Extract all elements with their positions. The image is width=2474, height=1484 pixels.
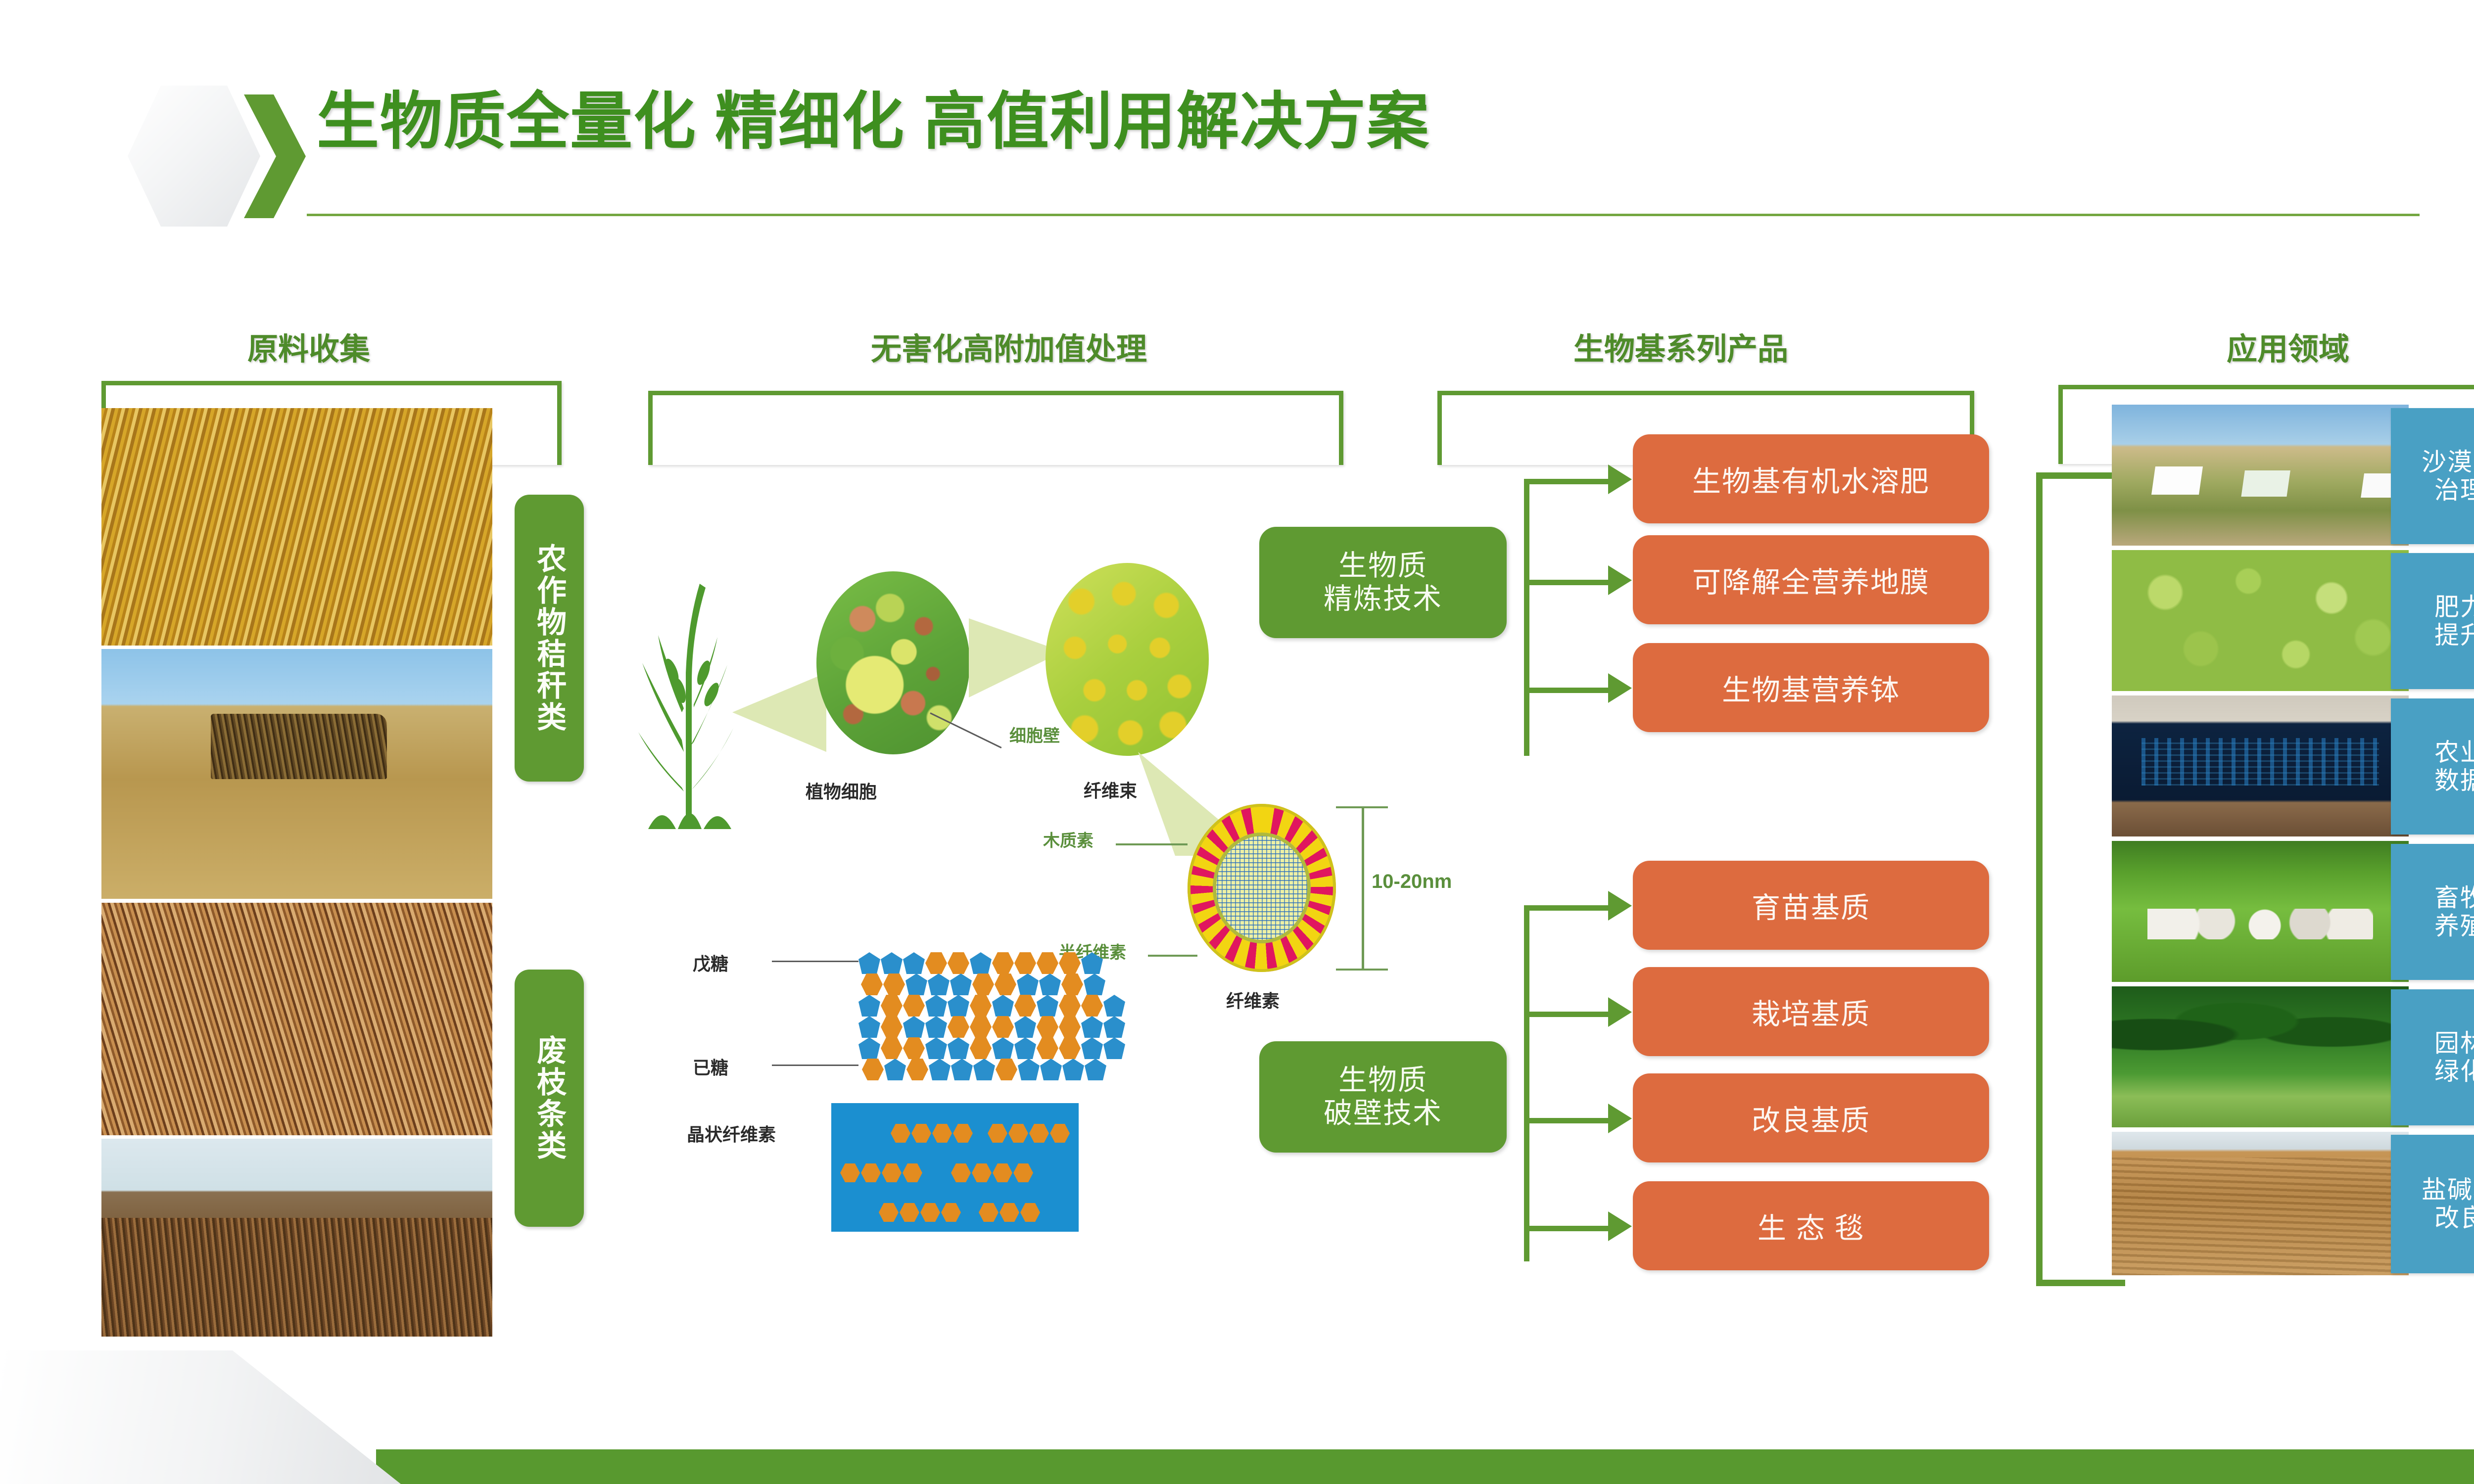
product-pill-cultivation-substrate[interactable]: 栽培基质	[1633, 967, 1989, 1056]
fiber-bundle-illustration	[1046, 563, 1209, 756]
sugar-chain-row	[858, 995, 1126, 1017]
feedstock-tag-waste-branches: 废枝条类	[515, 970, 584, 1227]
arrow-refining-2	[1608, 565, 1632, 595]
connector-branch-refining-2	[1524, 580, 1611, 585]
agriculture-data-center-photo	[2112, 696, 2409, 836]
crystalline-cellulose-illustration	[831, 1103, 1079, 1232]
label-pentose: 戊糖	[693, 950, 728, 975]
cellulose-cross-section-illustration	[1188, 804, 1336, 972]
corn-straw-field-photo	[101, 408, 492, 646]
arrow-wall-2	[1608, 997, 1632, 1027]
application-label-line2: 改良	[2434, 1204, 2474, 1232]
feedstock-tag-crop-straw: 农作物秸秆类	[515, 495, 584, 782]
sheep-grazing-photo	[2112, 841, 2409, 982]
connector-trunk-wall-breaking	[1524, 905, 1529, 1261]
technology-pill-wall-breaking[interactable]: 生物质 破壁技术	[1259, 1041, 1507, 1153]
label-cell-wall: 细胞壁	[1009, 722, 1060, 746]
arrow-wall-3	[1608, 1104, 1632, 1133]
rice-plant-icon	[628, 554, 747, 831]
application-label-fertility-improvement[interactable]: 肥力 提升	[2391, 553, 2474, 689]
technology-pill-refining-line1: 生物质	[1338, 550, 1427, 583]
application-label-line2: 治理	[2434, 476, 2474, 505]
section-header-products: 生物基系列产品	[1573, 324, 1788, 369]
connector-branch-wall-2	[1524, 1012, 1611, 1017]
label-lignin: 木质素	[1043, 827, 1094, 851]
arrow-wall-1	[1608, 891, 1632, 921]
label-hexose: 已糖	[693, 1054, 728, 1079]
product-pill-water-soluble-fertilizer[interactable]: 生物基有机水溶肥	[1633, 434, 1989, 523]
technology-pill-refining[interactable]: 生物质 精炼技术	[1259, 527, 1507, 638]
scale-bar-vertical	[1362, 806, 1364, 970]
lignin-leader-line	[1116, 843, 1188, 845]
connector-branch-refining-1	[1524, 479, 1611, 484]
connector-branch-wall-3	[1524, 1118, 1611, 1123]
header-logo	[128, 77, 301, 235]
arrow-wall-4	[1608, 1211, 1632, 1241]
sugar-chain-row	[858, 952, 1103, 974]
label-plant-cell: 植物细胞	[806, 778, 877, 803]
landscape-greening-photo	[2112, 986, 2409, 1127]
hemicellulose-leader-line	[1148, 955, 1197, 957]
application-label-line1: 盐碱地	[2422, 1176, 2474, 1204]
application-label-line1: 畜牧	[2434, 884, 2474, 912]
pruned-branches-photo	[101, 903, 492, 1135]
connector-branch-refining-3	[1524, 688, 1611, 693]
sugar-chain-row	[858, 1037, 1126, 1059]
product-pill-nutrient-pot[interactable]: 生物基营养钵	[1633, 643, 1989, 732]
application-label-line2: 养殖	[2434, 912, 2474, 940]
arrow-refining-1	[1608, 464, 1632, 494]
section-header-processing: 无害化高附加值处理	[871, 324, 1147, 369]
desertification-control-photo	[2112, 405, 2409, 546]
section-header-collection: 原料收集	[247, 324, 370, 369]
applications-bracket-spine	[2036, 472, 2043, 1286]
technology-pill-refining-line2: 精炼技术	[1324, 583, 1442, 616]
connector-branch-wall-4	[1524, 1226, 1611, 1231]
label-cellulose: 纤维素	[1226, 987, 1280, 1013]
label-crystalline-cellulose: 晶状纤维素	[687, 1120, 776, 1146]
product-pill-seedling-substrate[interactable]: 育苗基质	[1633, 861, 1989, 950]
sugar-chain-row	[861, 974, 1106, 995]
application-label-landscape-greening[interactable]: 园林 绿化	[2391, 989, 2474, 1125]
hexagon-icon	[128, 86, 260, 227]
technology-pill-wall-breaking-line1: 生物质	[1338, 1064, 1427, 1097]
footer-white-wedge	[0, 1350, 401, 1484]
vineyard-pruning-photo	[101, 1139, 492, 1337]
applications-bracket-bottom-arm	[2036, 1280, 2125, 1286]
section-header-applications: 应用领域	[2227, 324, 2349, 369]
product-pill-ecological-blanket[interactable]: 生 态 毯	[1633, 1181, 1989, 1270]
sugar-chain-row	[858, 1016, 1126, 1038]
application-label-saline-alkali-improvement[interactable]: 盐碱地 改良	[2391, 1135, 2474, 1273]
application-label-line1: 农业	[2434, 739, 2474, 767]
title-underline-rule	[307, 214, 2420, 216]
plant-cell-illustration	[816, 571, 970, 754]
application-label-line1: 肥力	[2434, 593, 2474, 621]
label-fiber-bundle: 纤维束	[1084, 777, 1137, 802]
sugar-chain-row	[862, 1059, 1107, 1080]
application-label-line2: 绿化	[2434, 1058, 2474, 1086]
application-label-line2: 数据	[2434, 767, 2474, 795]
label-scale-10-20nm: 10-20nm	[1372, 871, 1452, 893]
page-title: 生物质全量化 精细化 高值利用解决方案	[317, 87, 1430, 156]
product-pill-improvement-substrate[interactable]: 改良基质	[1633, 1073, 1989, 1162]
application-label-agriculture-data[interactable]: 农业 数据	[2391, 698, 2474, 835]
footer-green-bar	[376, 1449, 2474, 1484]
saline-alkali-land-photo	[2112, 1132, 2409, 1275]
scale-tick-bottom	[1336, 969, 1388, 971]
cabbage-field-photo	[2112, 550, 2409, 691]
application-label-line2: 提升	[2434, 621, 2474, 649]
connector-branch-wall-1	[1524, 905, 1611, 911]
hexose-leader-line	[772, 1065, 858, 1066]
baled-straw-field-photo	[101, 649, 492, 899]
product-pill-degradable-mulch-film[interactable]: 可降解全营养地膜	[1633, 535, 1989, 624]
pentose-leader-line	[772, 961, 858, 962]
application-label-line1: 沙漠化	[2422, 448, 2474, 476]
arrow-refining-3	[1608, 673, 1632, 703]
application-label-line1: 园林	[2434, 1029, 2474, 1058]
bracket-processing	[648, 391, 1343, 465]
technology-pill-wall-breaking-line2: 破壁技术	[1324, 1097, 1442, 1130]
application-label-desertification-control[interactable]: 沙漠化 治理	[2391, 408, 2474, 544]
application-label-livestock-breeding[interactable]: 畜牧 养殖	[2391, 844, 2474, 980]
connector-trunk-refining	[1524, 479, 1529, 756]
